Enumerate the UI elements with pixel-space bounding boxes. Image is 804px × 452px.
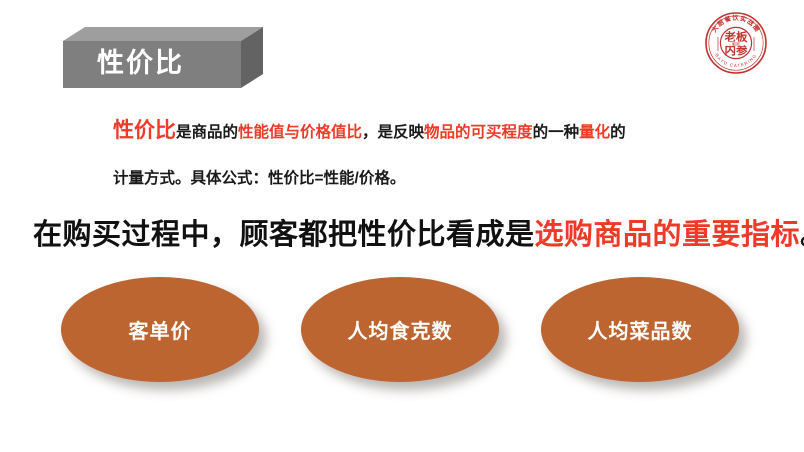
key-statement-heading: 在购买过程中，顾客都把性价比看成是选购商品的重要指标。 (33, 211, 778, 253)
heading-seg-1: 在购买过程中，顾客都把性价比看成是 (33, 219, 535, 251)
metric-ellipse-3[interactable]: 人均菜品数 (541, 277, 739, 382)
heading-seg-3: 。 (800, 219, 804, 251)
banner-top-face (63, 27, 263, 41)
paragraph-seg-3: 性能值与价格值比 (238, 124, 362, 141)
paragraph-seg-5: 物品的可买程度 (424, 124, 533, 141)
svg-text:解密: 解密 (732, 41, 740, 46)
metric-ellipse-2[interactable]: 人均食克数 (301, 277, 499, 382)
paragraph-seg-6: 的一种 (533, 124, 580, 141)
metric-label-2: 人均食克数 (348, 315, 453, 344)
metric-ellipse-1[interactable]: 客单价 (61, 277, 259, 382)
svg-text:大厨餐饮实战圈: 大厨餐饮实战圈 (710, 14, 762, 34)
brand-seal-logo: 大厨餐饮实战圈 BAYU CATERING 老板 内参 解密 (703, 10, 769, 76)
slide-canvas: 大厨餐饮实战圈 BAYU CATERING 老板 内参 解密 性价比 性价比是商… (0, 0, 804, 452)
section-title-banner: 性价比 (63, 27, 263, 88)
section-title-text: 性价比 (85, 41, 245, 85)
definition-paragraph: 性价比是商品的性能值与价格值比，是反映物品的可买程度的一种量化的 计量方式。具体… (113, 108, 713, 202)
paragraph-seg-7: 量化 (579, 124, 610, 141)
heading-seg-highlight: 选购商品的重要指标 (535, 219, 801, 251)
term-xingjiabi: 性价比 (113, 119, 176, 142)
formula-text: 计量方式。具体公式：性价比=性能/价格。 (113, 170, 405, 187)
paragraph-seg-8: 的 (610, 124, 626, 141)
metrics-row: 客单价 人均食克数 人均菜品数 (0, 277, 804, 392)
metric-label-1: 客单价 (129, 315, 192, 344)
paragraph-seg-4: ，是反映 (362, 124, 424, 141)
metric-label-3: 人均菜品数 (588, 315, 693, 344)
paragraph-seg-2: 是商品的 (176, 124, 238, 141)
paragraph-line-2: 计量方式。具体公式：性价比=性能/价格。 (113, 156, 713, 202)
paragraph-line-1: 性价比是商品的性能值与价格值比，是反映物品的可买程度的一种量化的 (113, 108, 713, 156)
